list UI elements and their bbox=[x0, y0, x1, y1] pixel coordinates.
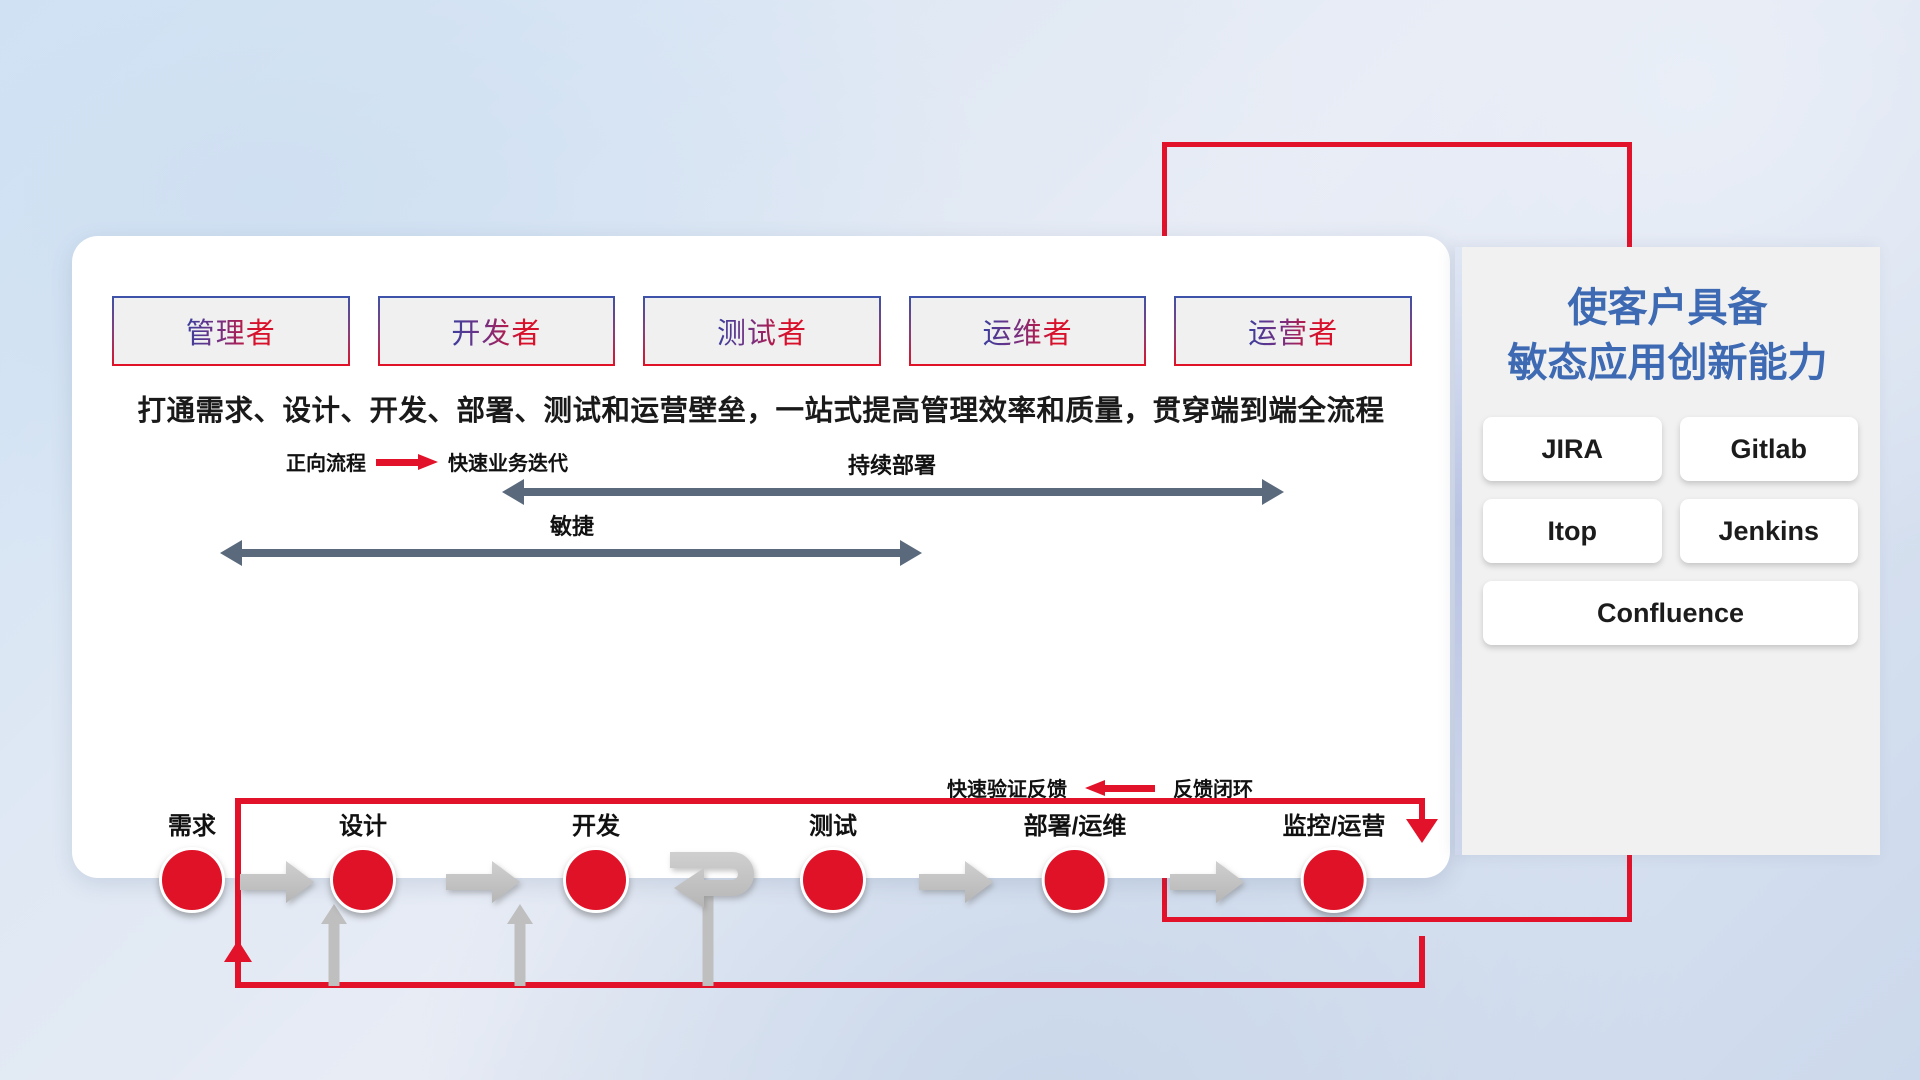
main-diagram-card: 管理者 开发者 测试者 运维者 运营者 打通需求、设计、开发、部署、测试和运营壁… bbox=[72, 236, 1450, 878]
span-label-agile: 敏捷 bbox=[312, 509, 832, 541]
tool-chip-grid: JIRA Gitlab Itop Jenkins Confluence bbox=[1483, 417, 1858, 645]
stage-dot bbox=[1301, 847, 1367, 913]
pipeline-loop-bottom-line bbox=[235, 982, 1425, 988]
flow-arrow-development-testing-loop-icon bbox=[670, 844, 774, 920]
stage-label: 需求 bbox=[159, 806, 225, 841]
stage-dot bbox=[563, 847, 629, 913]
stage-dot bbox=[1042, 847, 1108, 913]
span-arrow-agile bbox=[220, 540, 922, 566]
panel-heading-line2: 敏态应用创新能力 bbox=[1455, 336, 1880, 391]
arrow-right-red-icon bbox=[376, 455, 438, 469]
pipeline-arrow-up-icon bbox=[224, 940, 252, 962]
tool-chip-gitlab[interactable]: Gitlab bbox=[1680, 417, 1859, 481]
stage-label: 部署/运维 bbox=[1024, 806, 1127, 841]
pipeline-loop-left-stem bbox=[235, 958, 241, 986]
role-label: 开发者 bbox=[451, 310, 541, 352]
stage-testing[interactable]: 测试 bbox=[800, 806, 866, 913]
feeder-arrow-development-icon bbox=[507, 904, 533, 924]
stage-dot bbox=[159, 847, 225, 913]
role-label: 管理者 bbox=[186, 310, 276, 352]
stage-design[interactable]: 设计 bbox=[330, 806, 396, 913]
stage-label: 设计 bbox=[330, 806, 396, 841]
role-label: 测试者 bbox=[717, 310, 807, 352]
pipeline-loop-right-stem bbox=[1419, 936, 1425, 986]
role-label: 运维者 bbox=[983, 310, 1073, 352]
role-box-manager[interactable]: 管理者 bbox=[112, 296, 350, 366]
pipeline-arrow-down-icon bbox=[1406, 819, 1438, 843]
legend-forward-flow: 正向流程 快速业务迭代 bbox=[286, 447, 568, 476]
role-box-row: 管理者 开发者 测试者 运维者 运营者 bbox=[112, 296, 1412, 366]
legend-forward-right-label: 快速业务迭代 bbox=[448, 447, 568, 476]
arrow-left-red-icon bbox=[1085, 781, 1155, 795]
stage-development[interactable]: 开发 bbox=[563, 806, 629, 913]
stage-label: 监控/运营 bbox=[1283, 806, 1386, 841]
role-box-operations[interactable]: 运营者 bbox=[1174, 296, 1412, 366]
feeder-stem-design bbox=[329, 922, 340, 986]
stage-requirement[interactable]: 需求 bbox=[159, 806, 225, 913]
flow-arrow-requirement-to-design-icon bbox=[240, 861, 314, 903]
role-box-ops[interactable]: 运维者 bbox=[909, 296, 1147, 366]
stage-dot bbox=[800, 847, 866, 913]
feeder-stem-development bbox=[515, 922, 526, 986]
tool-chip-confluence[interactable]: Confluence bbox=[1483, 581, 1858, 645]
legend-forward-left-label: 正向流程 bbox=[286, 447, 366, 476]
stage-monitor-operations[interactable]: 监控/运营 bbox=[1283, 806, 1386, 913]
role-box-developer[interactable]: 开发者 bbox=[378, 296, 616, 366]
stage-dot bbox=[330, 847, 396, 913]
headline-sentence: 打通需求、设计、开发、部署、测试和运营壁垒，一站式提高管理效率和质量，贯穿端到端… bbox=[72, 388, 1450, 429]
tool-chip-jenkins[interactable]: Jenkins bbox=[1680, 499, 1859, 563]
outcome-side-panel: 使客户具备 敏态应用创新能力 JIRA Gitlab Itop Jenkins … bbox=[1455, 247, 1880, 855]
flow-arrow-deploy-to-monitor-icon bbox=[1170, 861, 1244, 903]
tool-chip-itop[interactable]: Itop bbox=[1483, 499, 1662, 563]
tool-chip-jira[interactable]: JIRA bbox=[1483, 417, 1662, 481]
stage-label: 开发 bbox=[563, 806, 629, 841]
flow-arrow-design-to-development-icon bbox=[446, 861, 520, 903]
role-label: 运营者 bbox=[1248, 310, 1338, 352]
stage-label: 测试 bbox=[800, 806, 866, 841]
span-label-continuous-deployment: 持续部署 bbox=[632, 448, 1152, 480]
span-arrow-continuous-deployment bbox=[502, 479, 1284, 505]
pipeline-loop-top-line bbox=[235, 798, 1425, 804]
panel-heading: 使客户具备 敏态应用创新能力 bbox=[1455, 281, 1880, 391]
flow-arrow-testing-to-deploy-icon bbox=[919, 861, 993, 903]
role-box-tester[interactable]: 测试者 bbox=[643, 296, 881, 366]
stage-deploy-ops[interactable]: 部署/运维 bbox=[1024, 806, 1127, 913]
panel-heading-line1: 使客户具备 bbox=[1455, 281, 1880, 336]
